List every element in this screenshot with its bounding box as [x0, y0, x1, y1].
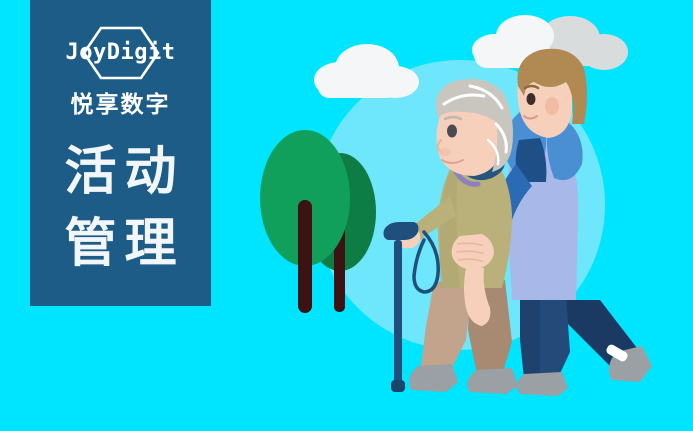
page-title-line-1: 活动: [30, 136, 211, 208]
logo-mark: JoyDigit: [30, 26, 211, 80]
young-man-front-shoe: [517, 372, 568, 396]
logo-wordmark: JoyDigit: [30, 39, 211, 67]
young-man-ear: [545, 97, 559, 115]
logo-block: JoyDigit 悦享数字: [30, 26, 211, 120]
page-title-line-2: 管理: [30, 208, 211, 280]
elderly-front-shoe: [409, 364, 458, 392]
cane-tip: [391, 380, 405, 392]
page-title: 活动 管理: [30, 136, 211, 280]
cane-shaft: [394, 240, 402, 388]
brand-panel: JoyDigit 悦享数字 活动 管理: [30, 0, 211, 306]
activity-management-banner: JoyDigit 悦享数字 活动 管理: [0, 0, 693, 431]
logo-chinese-name: 悦享数字: [30, 90, 211, 120]
elderly-back-shoe: [467, 368, 518, 394]
young-man-eye: [527, 93, 536, 105]
elderly-eye: [447, 125, 457, 138]
